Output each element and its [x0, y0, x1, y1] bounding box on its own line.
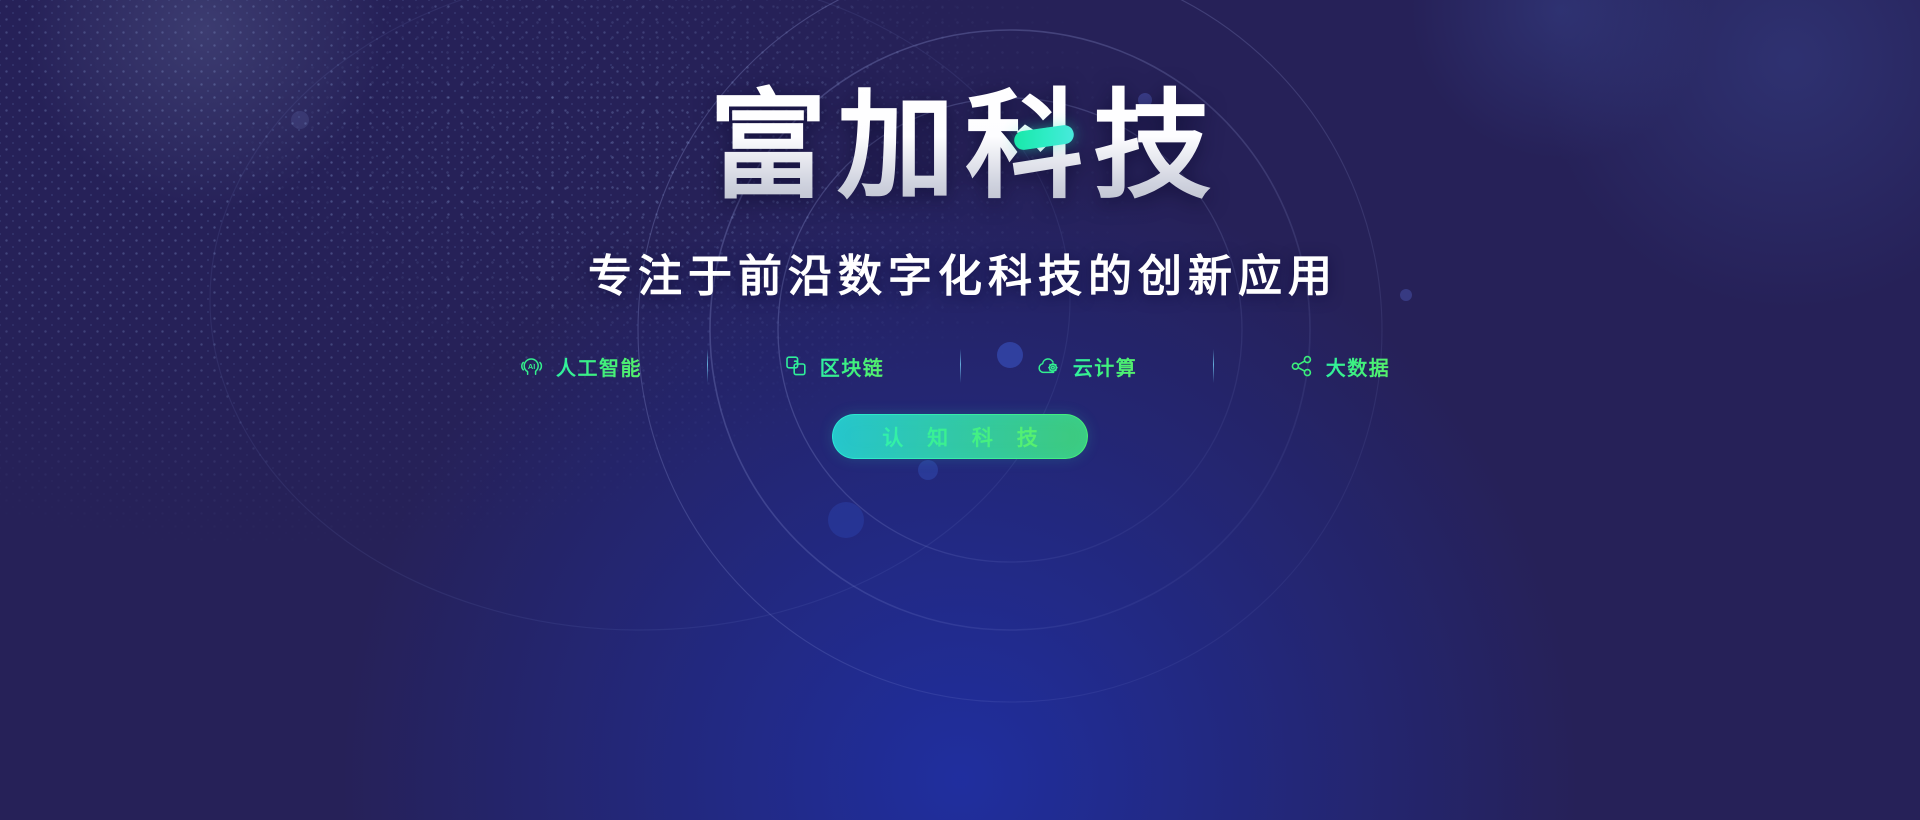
- feature-label: 区块链: [820, 352, 885, 381]
- feature-item-blockchain[interactable]: 区块链: [708, 352, 960, 381]
- cognitive-tech-button[interactable]: 认 知 科 技: [832, 414, 1088, 459]
- cta-row: 认 知 科 技: [0, 414, 1920, 459]
- ai-head-icon: AI: [519, 353, 545, 379]
- feature-label: 人工智能: [556, 352, 642, 381]
- brand-title-text: 富加科技: [709, 81, 1221, 213]
- feature-label: 大数据: [1326, 352, 1391, 381]
- blockchain-blocks-icon: [783, 353, 809, 379]
- svg-text:AI: AI: [528, 362, 535, 371]
- subtitle: 专注于前沿数字化科技的创新应用: [0, 240, 1920, 304]
- feature-item-ai[interactable]: AI 人工智能: [455, 352, 707, 381]
- share-nodes-icon: [1289, 353, 1315, 379]
- feature-item-cloud[interactable]: 云计算: [961, 352, 1213, 381]
- feature-list: AI 人工智能 区块链: [0, 340, 1920, 392]
- feature-item-bigdata[interactable]: 大数据: [1214, 352, 1466, 381]
- hero-banner: 富加科技 专注于前沿数字化科技的创新应用 AI 人工智能: [0, 0, 1920, 820]
- page-title: 富加科技: [0, 78, 1920, 217]
- cta-label: 认 知 科 技: [873, 422, 1047, 452]
- feature-label: 云计算: [1073, 352, 1138, 381]
- cloud-gear-icon: [1036, 353, 1062, 379]
